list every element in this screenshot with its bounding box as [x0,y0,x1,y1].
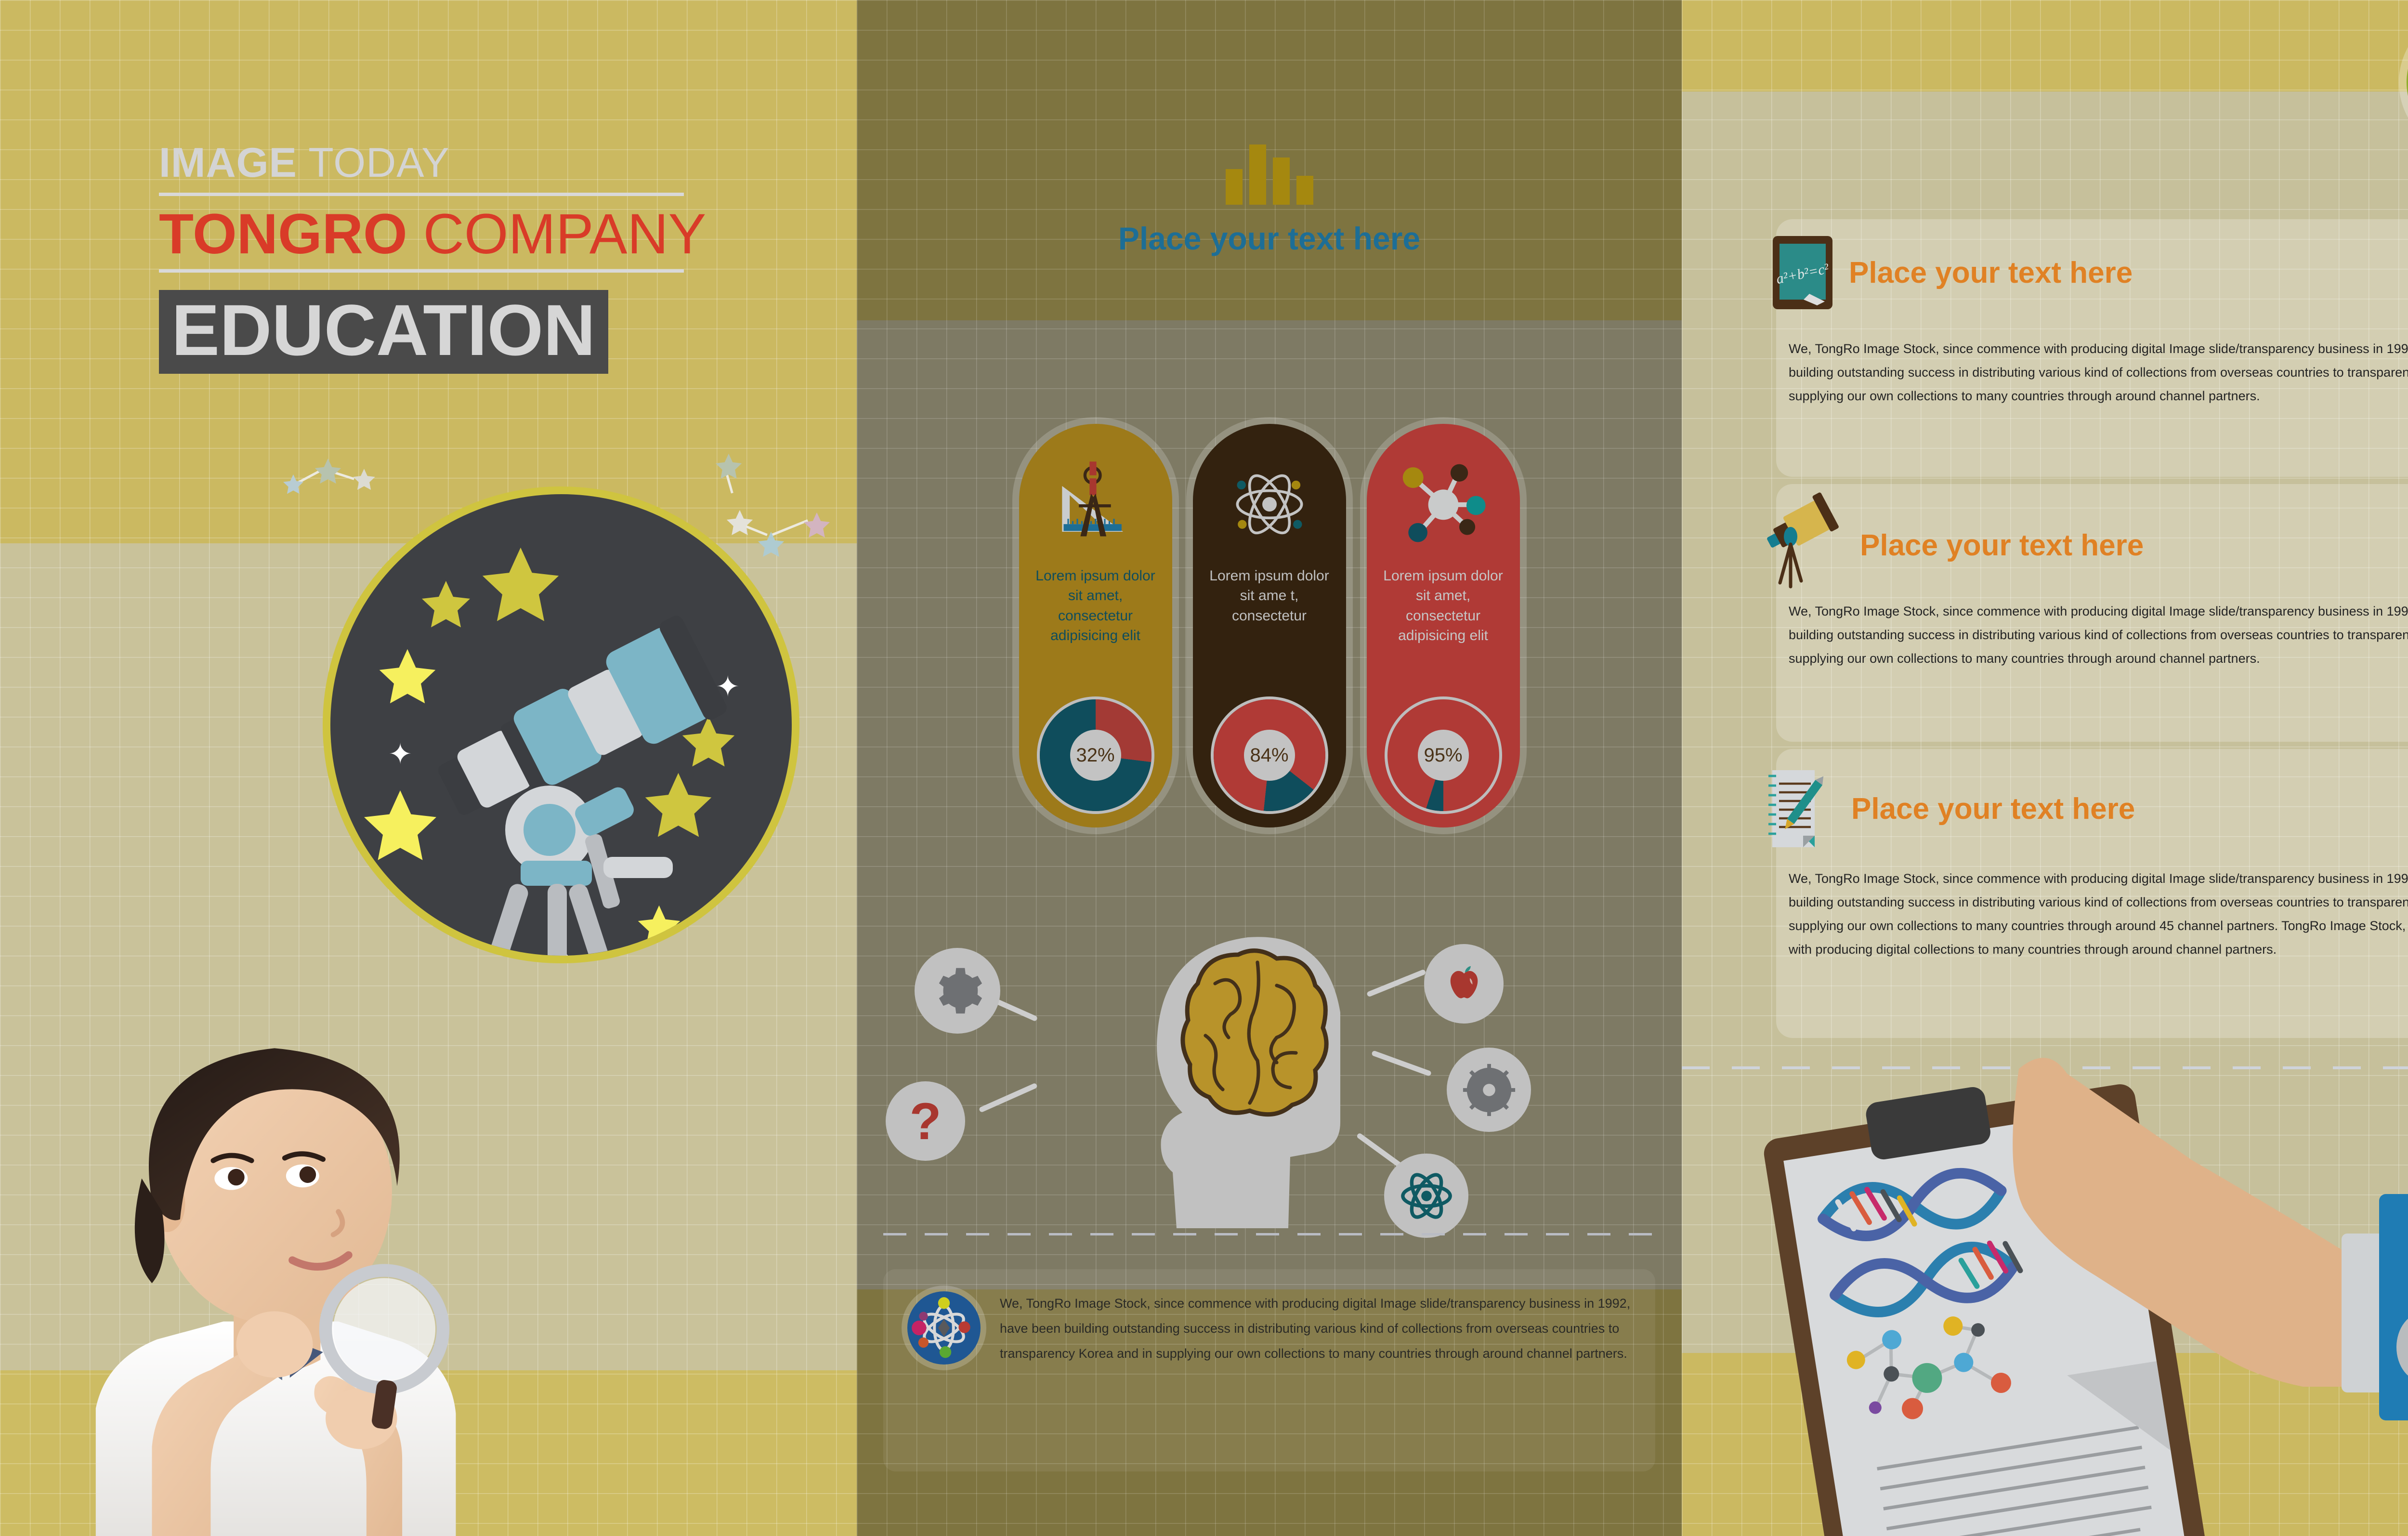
pill-card-2-donut: 84% [1193,699,1346,811]
telescope-icon [415,603,733,940]
compass-ruler-icon [1019,449,1172,560]
center-divider [883,1233,1655,1235]
right-block-3-header: Place your text here [1765,768,2135,849]
brain-icon [1183,951,1326,1115]
gear-small-icon [1461,1062,1518,1118]
notepad-pencil-icon [1765,768,1837,849]
sparkle-icon: ✦ [388,740,412,769]
question-bubble: ? [886,1081,965,1161]
donut-chart: 32% [1040,699,1152,811]
apple-icon [1439,959,1489,1009]
apple-bubble [1424,944,1504,1024]
center-header: Place your text here [857,144,1682,257]
title-tongro-word: TONGRO [159,202,407,266]
constellation-left [279,453,405,520]
telescope-icon [1759,502,1845,589]
constellation-star-icon [802,511,832,540]
right-block-1-body: We, TongRo Image Stock, since commence w… [1789,337,2408,408]
gear-icon [931,965,983,1017]
pill-card-3-donut: 95% [1367,699,1520,811]
education-box: EDUCATION [159,290,608,374]
center-note-text: We, TongRo Image Stock, since commence w… [1000,1291,1631,1366]
title-image-word: IMAGE [159,140,297,186]
blackboard-icon: a²+b²=c² [1771,234,1834,311]
title-block: IMAGE TODAY TONGRO COMPANY EDUCATION [159,140,684,374]
molecule-icon [1367,449,1520,560]
right-panel: a²+b²=c² Place your text here We, TongRo… [1682,0,2408,1536]
bar-chart-icon [1226,144,1313,205]
constellation-star-icon [756,530,786,560]
pill-card-2[interactable]: Lorem ipsum dolor sit ame t, consectetur… [1193,424,1346,827]
donut-value-1: 32% [1070,730,1121,781]
atom-badge-icon [907,1291,981,1365]
left-panel: IMAGE TODAY TONGRO COMPANY EDUCATION [0,0,857,1536]
pill-card-1-text: Lorem ipsum dolor sit amet, consectetur … [1030,566,1162,646]
title-line-1: IMAGE TODAY [159,140,684,186]
title-rule-top [159,193,684,196]
pill-card-1[interactable]: Lorem ipsum dolor sit amet, consectetur … [1019,424,1172,827]
right-block-3-title: Place your text here [1851,792,2135,826]
infographic-page: IMAGE TODAY TONGRO COMPANY EDUCATION [0,0,2408,1536]
pill-card-list: Lorem ipsum dolor sit amet, consectetur … [857,424,1682,827]
donut-chart: 84% [1214,699,1325,811]
atom-outline-bubble [1384,1154,1468,1238]
constellation-star-icon [282,473,305,496]
title-today-word: TODAY [297,140,450,186]
gear-small-bubble [1447,1048,1531,1132]
pill-card-1-donut: 32% [1019,699,1172,811]
donut-chart: 95% [1387,699,1499,811]
clipboard-dna-scene [1682,1050,2408,1536]
right-block-2-title: Place your text here [1860,528,2144,563]
title-line-2: TONGRO COMPANY [159,206,684,263]
center-note-card: We, TongRo Image Stock, since commence w… [883,1269,1655,1471]
atom-outline-icon [1398,1168,1455,1224]
center-panel: Place your text here [857,0,1682,1536]
connector-line [979,1083,1038,1113]
right-block-2-body: We, TongRo Image Stock, since commence w… [1789,600,2408,670]
head-silhouette-icon [1069,891,1406,1228]
title-rule-bottom [159,269,684,273]
right-block-3-body: We, TongRo Image Stock, since commence w… [1789,867,2408,962]
pill-card-2-text: Lorem ipsum dolor sit ame t, consectetur [1204,566,1335,626]
right-block-1-header: a²+b²=c² Place your text here [1771,234,2133,311]
donut-value-3: 95% [1418,730,1469,781]
constellation-star-icon [714,452,744,482]
constellation-star-icon [725,508,755,538]
right-block-1-title: Place your text here [1849,256,2133,290]
center-header-title: Place your text here [857,220,1682,257]
title-line-3: EDUCATION [171,297,596,363]
question-mark-icon: ? [910,1091,942,1151]
donut-value-2: 84% [1244,730,1295,781]
brain-scene: ? [857,891,1682,1228]
title-company-word: COMPANY [407,202,707,266]
gear-bubble [915,948,1000,1034]
boy-photo [17,987,532,1536]
pill-card-3[interactable]: Lorem ipsum dolor sit amet, consectetur … [1367,424,1520,827]
right-block-2-header: Place your text here [1759,502,2144,589]
telescope-medallion: ✦ ✦ ✦ [323,486,799,963]
constellation-star-icon [313,457,343,486]
constellation-star-icon [352,467,377,492]
pill-card-3-text: Lorem ipsum dolor sit amet, consectetur … [1377,566,1509,646]
atom-icon [1193,449,1346,560]
